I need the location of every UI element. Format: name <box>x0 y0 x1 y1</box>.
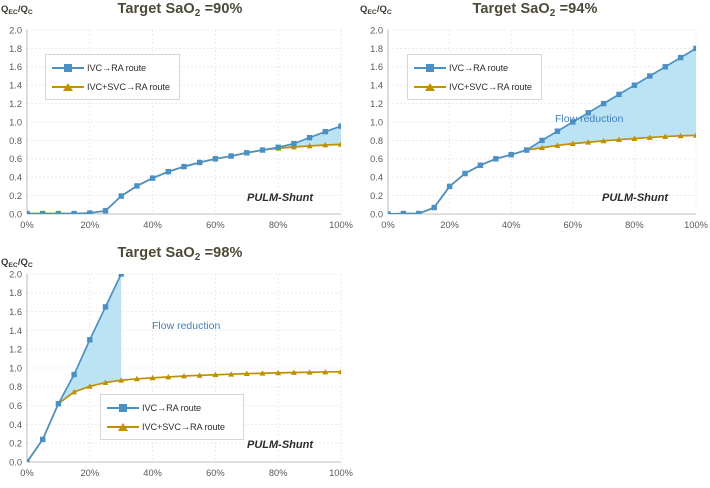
svg-text:1.0: 1.0 <box>370 117 383 127</box>
svg-text:0.2: 0.2 <box>9 439 22 449</box>
chart-panel-sao2-90: Target SaO2 =90% QEC/QC 0.00.20.40.60.81… <box>0 0 355 244</box>
svg-text:100%: 100% <box>684 220 708 230</box>
svg-text:60%: 60% <box>206 220 225 230</box>
figure-canvas: Target SaO2 =90% QEC/QC 0.00.20.40.60.81… <box>0 0 710 488</box>
plot-area-sao2-98: 0.00.20.40.60.81.01.21.41.61.82.00%20%40… <box>0 244 355 488</box>
svg-text:1.2: 1.2 <box>370 99 383 109</box>
svg-text:80%: 80% <box>625 220 644 230</box>
svg-text:40%: 40% <box>143 468 162 478</box>
legend-entry-ivc-ra[interactable]: IVC→RA route <box>46 58 179 77</box>
svg-text:1.6: 1.6 <box>9 307 22 317</box>
svg-text:0.0: 0.0 <box>9 457 22 467</box>
svg-text:0.2: 0.2 <box>9 191 22 201</box>
legend-label-ivc-svc-ra: IVC+SVC→RA route <box>87 82 170 92</box>
legend-entry-ivc-svc-ra[interactable]: IVC+SVC→RA route <box>101 417 243 436</box>
annotation-flow-reduction: Flow reduction <box>152 320 220 332</box>
plot-area-sao2-90: 0.00.20.40.60.81.01.21.41.61.82.00%20%40… <box>0 0 355 244</box>
legend-marker-triangle-icon <box>52 81 84 93</box>
svg-text:0%: 0% <box>20 468 33 478</box>
svg-text:1.0: 1.0 <box>9 117 22 127</box>
chart-panel-sao2-98: Target SaO2 =98% QEC/QC 0.00.20.40.60.81… <box>0 244 355 488</box>
svg-text:1.4: 1.4 <box>9 326 22 336</box>
legend-sao2-98[interactable]: IVC→RA route IVC+SVC→RA route <box>100 394 244 440</box>
svg-text:1.8: 1.8 <box>9 288 22 298</box>
svg-text:0.0: 0.0 <box>370 209 383 219</box>
svg-text:60%: 60% <box>206 468 225 478</box>
svg-text:0.4: 0.4 <box>370 173 383 183</box>
svg-text:1.4: 1.4 <box>370 81 383 91</box>
legend-label-ivc-ra: IVC→RA route <box>87 63 146 73</box>
legend-marker-triangle-icon <box>414 81 446 93</box>
watermark-pulm-shunt: PULM-Shunt <box>247 192 313 204</box>
legend-marker-triangle-icon <box>107 421 139 433</box>
svg-text:1.0: 1.0 <box>9 363 22 373</box>
chart-panel-sao2-94: Target SaO2 =94% QEC/QC 0.00.20.40.60.81… <box>355 0 710 244</box>
svg-text:1.8: 1.8 <box>370 44 383 54</box>
legend-entry-ivc-svc-ra[interactable]: IVC+SVC→RA route <box>408 77 541 96</box>
svg-text:20%: 20% <box>80 468 99 478</box>
legend-entry-ivc-ra[interactable]: IVC→RA route <box>101 398 243 417</box>
svg-text:0.6: 0.6 <box>9 401 22 411</box>
svg-text:0.8: 0.8 <box>9 382 22 392</box>
svg-text:40%: 40% <box>502 220 521 230</box>
svg-text:1.8: 1.8 <box>9 44 22 54</box>
legend-label-ivc-svc-ra: IVC+SVC→RA route <box>449 82 532 92</box>
watermark-pulm-shunt: PULM-Shunt <box>247 439 313 451</box>
svg-text:0.6: 0.6 <box>370 154 383 164</box>
svg-text:1.2: 1.2 <box>9 99 22 109</box>
svg-text:80%: 80% <box>269 468 288 478</box>
svg-text:0.4: 0.4 <box>9 173 22 183</box>
svg-text:60%: 60% <box>563 220 582 230</box>
svg-text:0.8: 0.8 <box>9 136 22 146</box>
svg-text:2.0: 2.0 <box>9 25 22 35</box>
svg-text:0.6: 0.6 <box>9 154 22 164</box>
svg-text:20%: 20% <box>440 220 459 230</box>
svg-text:100%: 100% <box>329 220 353 230</box>
legend-entry-ivc-ra[interactable]: IVC→RA route <box>408 58 541 77</box>
svg-text:40%: 40% <box>143 220 162 230</box>
legend-sao2-90[interactable]: IVC→RA route IVC+SVC→RA route <box>45 54 180 100</box>
svg-text:1.6: 1.6 <box>9 62 22 72</box>
legend-label-ivc-ra: IVC→RA route <box>142 403 201 413</box>
legend-marker-square-icon <box>414 62 446 74</box>
legend-marker-square-icon <box>107 402 139 414</box>
svg-text:2.0: 2.0 <box>370 25 383 35</box>
svg-text:0%: 0% <box>20 220 33 230</box>
svg-text:0.4: 0.4 <box>9 420 22 430</box>
annotation-flow-reduction: Flow reduction <box>555 113 623 125</box>
svg-text:100%: 100% <box>329 468 353 478</box>
svg-text:1.4: 1.4 <box>9 81 22 91</box>
svg-text:20%: 20% <box>80 220 99 230</box>
svg-text:0%: 0% <box>381 220 394 230</box>
legend-label-ivc-svc-ra: IVC+SVC→RA route <box>142 422 225 432</box>
svg-text:80%: 80% <box>269 220 288 230</box>
svg-text:0.2: 0.2 <box>370 191 383 201</box>
plot-area-sao2-94: 0.00.20.40.60.81.01.21.41.61.82.00%20%40… <box>355 0 710 244</box>
svg-text:0.0: 0.0 <box>9 209 22 219</box>
svg-text:1.6: 1.6 <box>370 62 383 72</box>
legend-sao2-94[interactable]: IVC→RA route IVC+SVC→RA route <box>407 54 542 100</box>
legend-entry-ivc-svc-ra[interactable]: IVC+SVC→RA route <box>46 77 179 96</box>
legend-marker-square-icon <box>52 62 84 74</box>
watermark-pulm-shunt: PULM-Shunt <box>602 192 668 204</box>
legend-label-ivc-ra: IVC→RA route <box>449 63 508 73</box>
svg-text:1.2: 1.2 <box>9 345 22 355</box>
svg-text:0.8: 0.8 <box>370 136 383 146</box>
svg-text:2.0: 2.0 <box>9 269 22 279</box>
